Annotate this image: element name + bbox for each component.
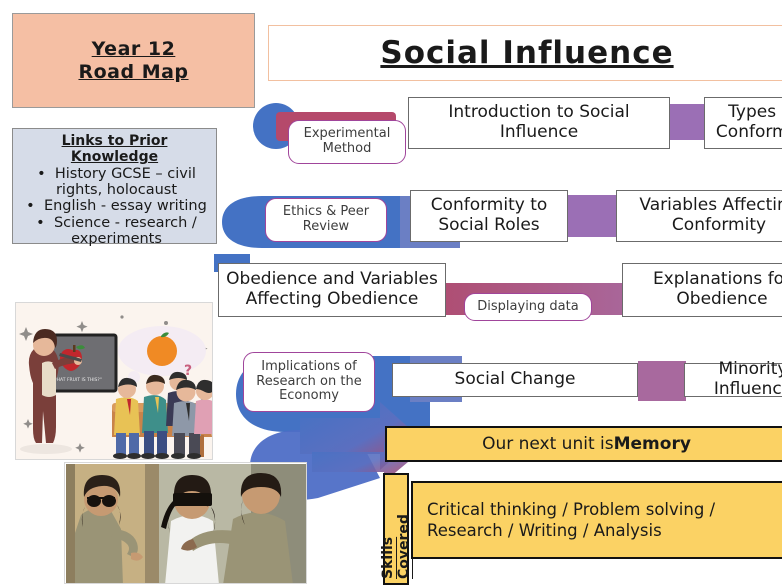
- prior-knowledge-box: Links to Prior Knowledge History GCSE – …: [12, 128, 217, 244]
- list-item: Science - research / experiments: [23, 215, 210, 247]
- year-road-map-title: Year 12 Road Map: [12, 13, 255, 108]
- svg-text:"WHAT FRUIT IS THIS?": "WHAT FRUIT IS THIS?": [50, 377, 102, 383]
- year-line-1: Year 12: [92, 38, 176, 60]
- skill-pill-implications-of-research[interactable]: Implications of Research on the Economy: [243, 352, 375, 412]
- skills-line-2: Research / Writing / Analysis: [427, 520, 715, 541]
- topic-minority-influence[interactable]: Minority Influence: [684, 363, 782, 397]
- prior-knowledge-list: History GCSE – civil rights, holocaust E…: [19, 166, 210, 247]
- next-unit-prefix: Our next unit is: [482, 434, 614, 454]
- svg-text:?: ?: [184, 363, 192, 379]
- topic-social-change[interactable]: Social Change: [392, 363, 638, 397]
- connector-bar-row2: [566, 195, 618, 237]
- skills-covered-tab: Skills Covered: [383, 473, 409, 585]
- topic-variables-affecting-conformity[interactable]: Variables Affecting Conformity: [616, 190, 782, 242]
- prison-experiment-photo: [64, 462, 307, 584]
- skills-line-1: Critical thinking / Problem solving /: [427, 499, 715, 520]
- page-title: Social Influence: [380, 35, 673, 71]
- topic-explanations-for-obedience[interactable]: Explanations for Obedience: [622, 263, 782, 317]
- conformity-illustration: "WHAT FRUIT IS THIS?": [15, 302, 213, 460]
- topic-introduction-to-social-influence[interactable]: Introduction to Social Influence: [408, 97, 670, 149]
- skill-pill-displaying-data[interactable]: Displaying data: [464, 293, 592, 321]
- prior-knowledge-title: Links to Prior Knowledge: [19, 133, 210, 165]
- skill-pill-experimental-method[interactable]: Experimental Method: [288, 120, 406, 164]
- next-unit-banner: Our next unit is Memory: [385, 426, 782, 462]
- connector-bar-row1: [664, 104, 708, 140]
- list-item: English - essay writing: [23, 198, 210, 214]
- slide-title-box: Social Influence: [268, 25, 782, 81]
- year-line-2: Road Map: [78, 61, 188, 83]
- topic-types-of-conformity[interactable]: Types of Conformity: [704, 97, 782, 149]
- skills-covered-box: Critical thinking / Problem solving / Re…: [411, 481, 782, 559]
- topic-obedience-and-variables[interactable]: Obedience and Variables Affecting Obedie…: [218, 263, 446, 317]
- connector-bar-row4: [638, 361, 686, 401]
- road-map-slide: Year 12 Road Map Social Influence Links …: [0, 0, 782, 587]
- topic-conformity-to-social-roles[interactable]: Conformity to Social Roles: [410, 190, 568, 242]
- list-item: History GCSE – civil rights, holocaust: [23, 166, 210, 198]
- skill-pill-ethics-peer-review[interactable]: Ethics & Peer Review: [265, 198, 387, 242]
- next-unit-name: Memory: [614, 434, 691, 454]
